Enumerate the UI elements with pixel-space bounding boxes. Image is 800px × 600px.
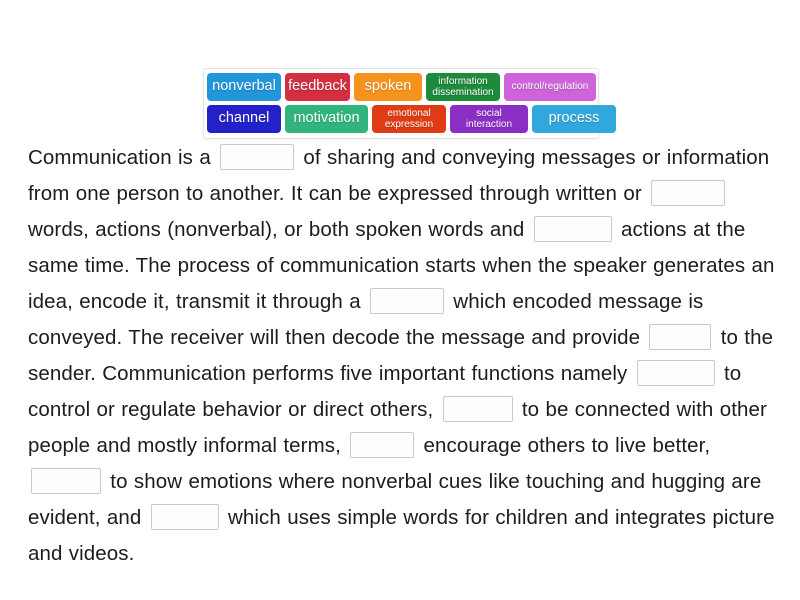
word-bank: nonverbal feedback spoken information di… xyxy=(203,68,599,139)
word-tile-motivation[interactable]: motivation xyxy=(285,105,368,133)
word-tile-spoken[interactable]: spoken xyxy=(354,73,422,101)
answer-blank-8[interactable] xyxy=(350,432,414,458)
word-bank-row-1: nonverbal feedback spoken information di… xyxy=(207,73,595,101)
answer-blank-7[interactable] xyxy=(443,396,513,422)
word-tile-control-regulation[interactable]: control/regulation xyxy=(504,73,596,101)
word-tile-process[interactable]: process xyxy=(532,105,616,133)
answer-blank-1[interactable] xyxy=(220,144,294,170)
passage-text: encourage others to live better, xyxy=(417,434,716,457)
answer-blank-4[interactable] xyxy=(370,288,444,314)
answer-blank-10[interactable] xyxy=(151,504,219,530)
answer-blank-3[interactable] xyxy=(534,216,612,242)
word-tile-feedback[interactable]: feedback xyxy=(285,73,350,101)
word-tile-social-interaction[interactable]: social interaction xyxy=(450,105,528,133)
word-bank-row-2: channel motivation emotional expression … xyxy=(207,105,595,133)
answer-blank-6[interactable] xyxy=(637,360,715,386)
cloze-passage: Communication is a of sharing and convey… xyxy=(28,140,776,572)
passage-text: Communication is a xyxy=(28,146,217,169)
word-tile-nonverbal[interactable]: nonverbal xyxy=(207,73,281,101)
answer-blank-2[interactable] xyxy=(651,180,725,206)
answer-blank-9[interactable] xyxy=(31,468,101,494)
word-tile-information-dissemination[interactable]: information dissemination xyxy=(426,73,500,101)
answer-blank-5[interactable] xyxy=(649,324,711,350)
word-tile-channel[interactable]: channel xyxy=(207,105,281,133)
word-tile-emotional-expression[interactable]: emotional expression xyxy=(372,105,446,133)
